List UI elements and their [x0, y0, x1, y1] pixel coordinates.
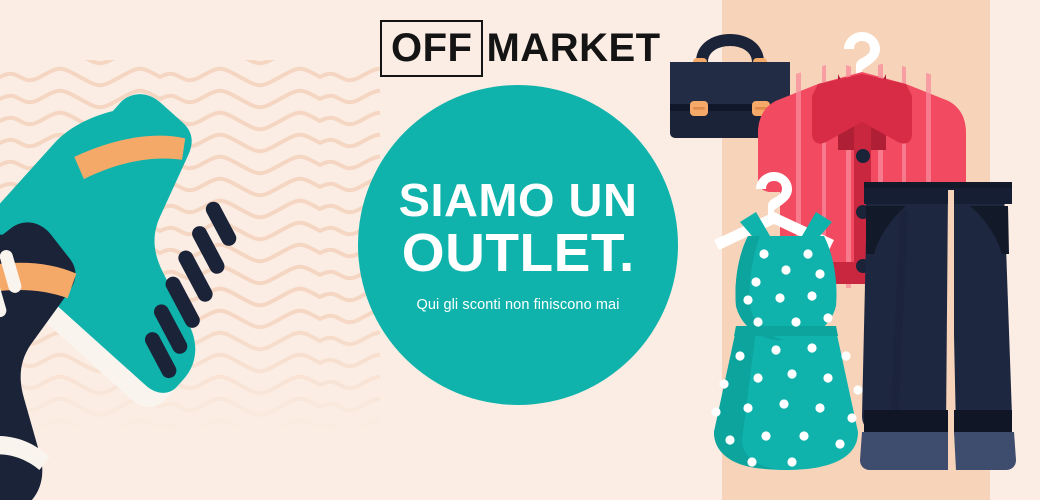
trousers-center-gap [948, 190, 954, 438]
badge-subline: Qui gli sconti non finiscono mai [416, 297, 619, 313]
trousers-cuff-left [860, 432, 948, 470]
trousers-cuff-shadow-left [864, 410, 948, 434]
navy-trousers [860, 182, 1016, 472]
logo-off-box: OFF [380, 20, 483, 77]
trousers-cuff-gap [948, 432, 954, 472]
briefcase-flap [670, 62, 790, 110]
headline-line-2: OUTLET. [401, 225, 634, 282]
promo-banner: OFF MARKET SIAMO UN OUTLET. Qui gli scon… [0, 0, 1040, 500]
trousers-waistband-top [864, 182, 1012, 188]
trousers-cuff-right [954, 432, 1016, 470]
brand-logo[interactable]: OFF MARKET [380, 20, 661, 77]
headline-line-1: SIAMO UN [399, 177, 638, 223]
trousers-cuff-shadow-right [954, 410, 1012, 434]
trousers-waistband [864, 186, 1012, 204]
shirt-sleeve-right [934, 100, 966, 192]
logo-market-text: MARKET [486, 28, 660, 69]
outlet-circle-badge: SIAMO UN OUTLET. Qui gli sconti non fini… [358, 85, 678, 405]
